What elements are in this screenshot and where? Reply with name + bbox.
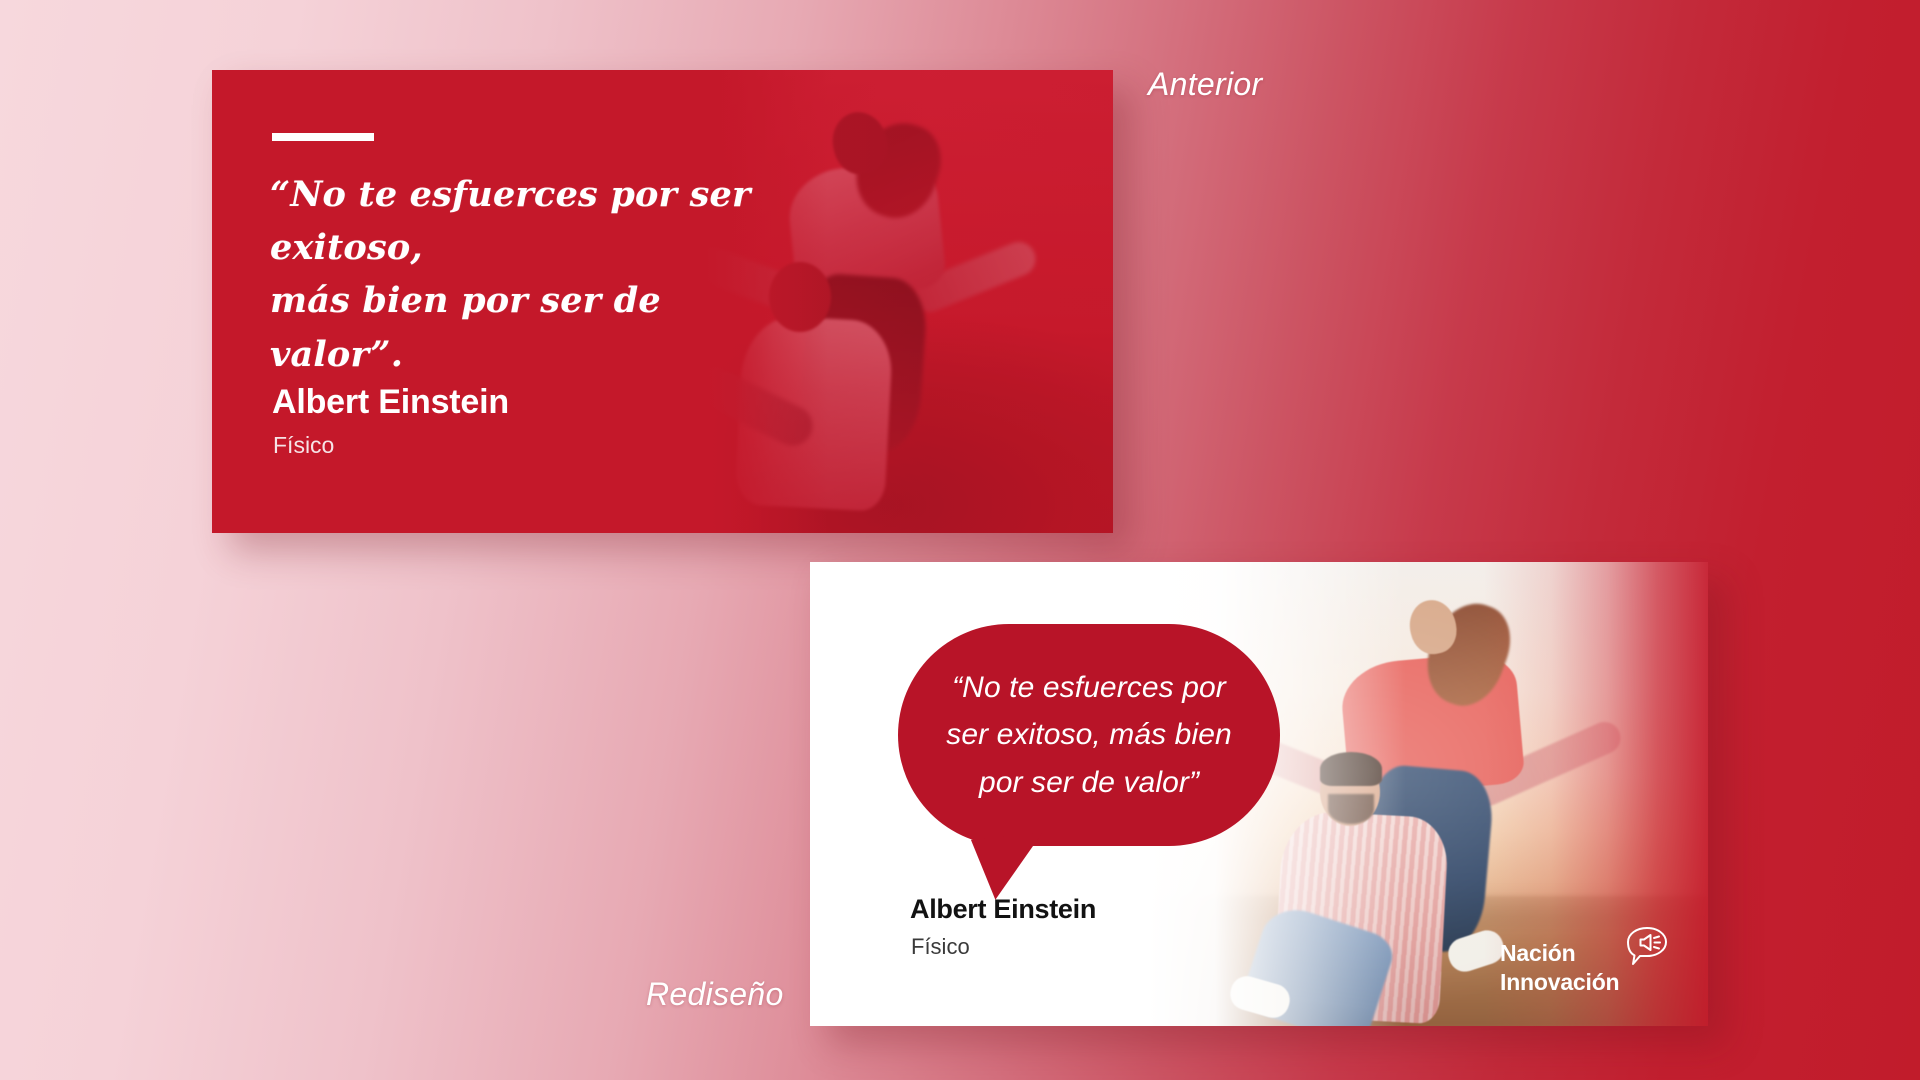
rediseno-quote-line-1: “No te esfuerces por bbox=[939, 664, 1239, 711]
rediseno-quote: “No te esfuerces por ser exitoso, más bi… bbox=[939, 664, 1239, 806]
rediseno-author-name: Albert Einstein bbox=[910, 894, 1096, 925]
rediseno-logo-line-1: Nación bbox=[1500, 940, 1575, 967]
anterior-card[interactable]: “No te esfuerces por ser exitoso, más bi… bbox=[212, 70, 1113, 533]
rediseno-author-role: Físico bbox=[911, 934, 970, 960]
anterior-quote-line-2: más bien por ser de valor”. bbox=[270, 274, 790, 380]
rediseno-logo[interactable]: Nación Innovación bbox=[1500, 940, 1680, 1002]
rediseno-card[interactable]: “No te esfuerces por ser exitoso, más bi… bbox=[810, 562, 1708, 1026]
anterior-author-name: Albert Einstein bbox=[272, 383, 509, 422]
rediseno-logo-line-2: Innovación bbox=[1500, 969, 1619, 996]
anterior-author-role: Físico bbox=[273, 432, 334, 459]
anterior-quote: “No te esfuerces por ser exitoso, más bi… bbox=[270, 168, 790, 381]
caption-rediseno: Rediseño bbox=[646, 976, 784, 1013]
megaphone-speech-bubble-icon bbox=[1624, 926, 1670, 966]
speech-bubble-tail bbox=[971, 832, 1049, 901]
rediseno-quote-line-2: ser exitoso, más bien bbox=[939, 711, 1239, 758]
caption-anterior: Anterior bbox=[1148, 66, 1262, 103]
accent-rule bbox=[272, 133, 374, 141]
quote-speech-bubble: “No te esfuerces por ser exitoso, más bi… bbox=[898, 624, 1280, 846]
anterior-quote-line-1: “No te esfuerces por ser exitoso, bbox=[270, 168, 790, 274]
rediseno-quote-line-3: por ser de valor” bbox=[939, 759, 1239, 806]
